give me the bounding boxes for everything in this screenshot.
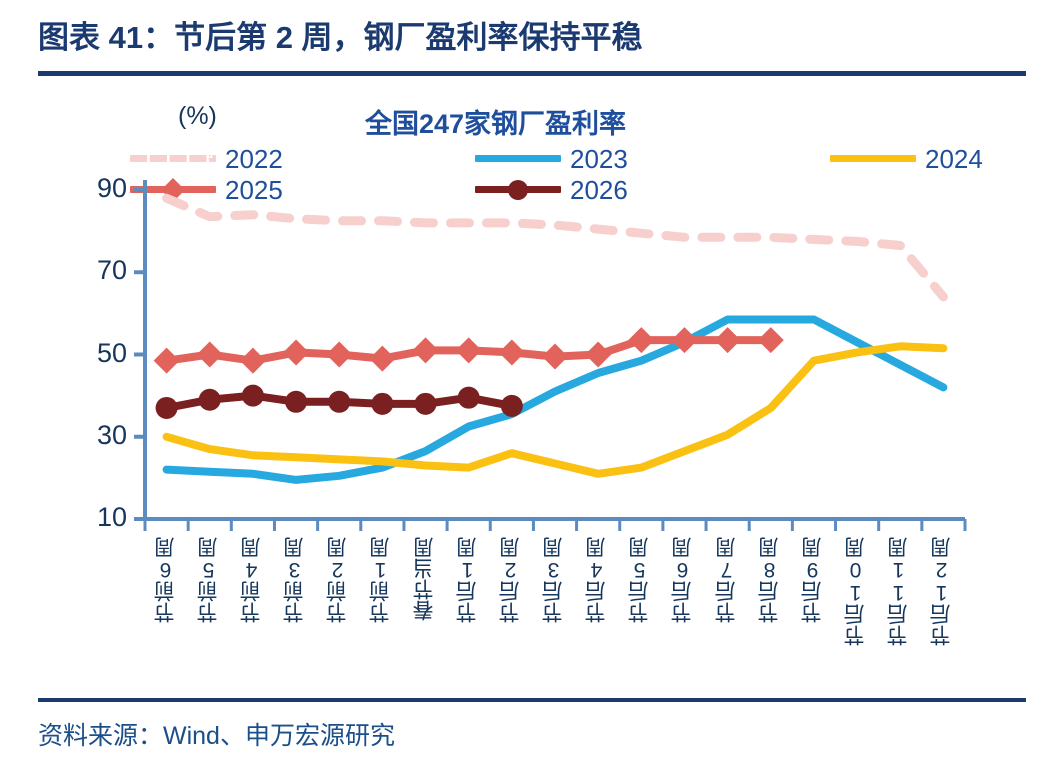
x-axis-tick-label: 节后2周 [500, 537, 521, 623]
series-marker-2026 [458, 387, 480, 409]
x-axis-tick-label: 节后6周 [672, 537, 693, 623]
series-marker-2026 [242, 385, 264, 407]
series-marker-2025 [413, 337, 439, 363]
x-axis-tick-label: 节后11周 [888, 537, 909, 646]
x-axis-tick-label: 节前5周 [198, 537, 219, 623]
series-marker-2026 [415, 393, 437, 415]
chart-container: (%) 全国247家钢厂盈利率 202220232024 20252026 10… [0, 80, 1058, 690]
series-marker-2025 [369, 346, 395, 372]
y-axis-tick-label: 10 [67, 502, 127, 533]
series-marker-2025 [326, 342, 352, 368]
series-marker-2026 [328, 391, 350, 413]
y-axis-tick-label: 50 [67, 338, 127, 369]
series-marker-2026 [199, 389, 221, 411]
x-axis-tick-label: 节前1周 [370, 537, 391, 623]
x-axis-tick-label: 节后3周 [543, 537, 564, 623]
series-marker-2025 [585, 342, 611, 368]
series-marker-2025 [240, 348, 266, 374]
series-marker-2026 [285, 391, 307, 413]
footer-divider [38, 698, 1026, 702]
series-line-2022 [167, 198, 944, 297]
series-marker-2025 [283, 339, 309, 365]
header-divider [38, 71, 1026, 76]
chart-page: 图表 41：节后第 2 周，钢厂盈利率保持平稳 (%) 全国247家钢厂盈利率 … [0, 0, 1058, 784]
x-axis-tick-label: 节后12周 [931, 537, 952, 646]
series-marker-2025 [715, 327, 741, 353]
page-title: 图表 41：节后第 2 周，钢厂盈利率保持平稳 [38, 18, 1028, 58]
series-marker-2025 [499, 339, 525, 365]
series-marker-2026 [156, 397, 178, 419]
series-marker-2025 [154, 348, 180, 374]
series-marker-2026 [371, 393, 393, 415]
x-axis-tick-label: 春节当周 [414, 537, 435, 621]
x-axis-tick-label: 节后7周 [716, 537, 737, 623]
series-marker-2025 [456, 337, 482, 363]
x-axis-tick-label: 节后4周 [586, 537, 607, 623]
x-axis-tick-label: 节前4周 [241, 537, 262, 623]
series-marker-2025 [628, 327, 654, 353]
x-axis-tick-label: 节前6周 [155, 537, 176, 623]
x-axis-tick-label: 节后9周 [802, 537, 823, 623]
x-axis-tick-label: 节前3周 [284, 537, 305, 623]
x-axis-tick-label: 节后5周 [629, 537, 650, 623]
x-axis-tick-label: 节后8周 [759, 537, 780, 623]
x-axis-tick-label: 节前2周 [327, 537, 348, 623]
y-axis-tick-label: 70 [67, 255, 127, 286]
x-axis-tick-label: 节后1周 [457, 537, 478, 623]
source-note: 资料来源：Wind、申万宏源研究 [38, 716, 395, 752]
chart-header: 图表 41：节后第 2 周，钢厂盈利率保持平稳 [38, 18, 1028, 72]
y-axis-tick-label: 30 [67, 420, 127, 451]
y-axis-tick-label: 90 [67, 173, 127, 204]
series-marker-2025 [197, 342, 223, 368]
series-marker-2025 [758, 327, 784, 353]
x-axis-tick-label: 节后10周 [845, 537, 866, 646]
series-marker-2025 [542, 344, 568, 370]
series-marker-2026 [501, 395, 523, 417]
